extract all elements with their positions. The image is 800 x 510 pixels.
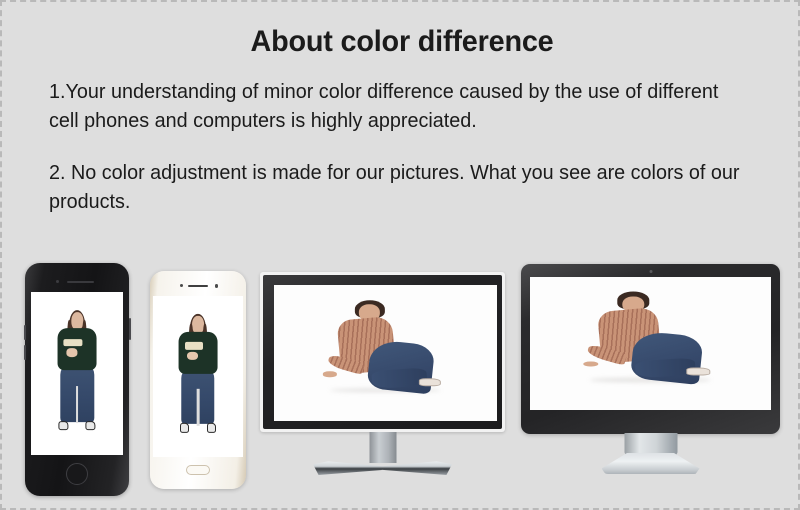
black-smartphone-screen	[31, 292, 123, 455]
pc-monitor-screen	[274, 285, 497, 421]
standing-model-photo	[49, 312, 104, 436]
model-shoe-left	[180, 423, 189, 433]
earpiece-speaker-icon	[67, 281, 94, 284]
front-camera-icon	[215, 284, 219, 288]
model-shoe-left	[59, 421, 68, 431]
apple-display-stand-base	[602, 453, 700, 474]
model-jeans-gap	[76, 386, 79, 423]
sweatshirt-graphic	[185, 342, 203, 349]
seated-model-photo	[576, 292, 725, 401]
apple-display-screen	[530, 277, 771, 410]
white-smartphone-screen	[153, 296, 243, 457]
model-heeled-shoe	[419, 378, 441, 386]
earpiece-speaker-icon	[188, 285, 208, 288]
proximity-sensor-icon	[180, 284, 183, 287]
apple-display-bezel	[521, 264, 780, 434]
page-title: About color difference	[18, 25, 786, 59]
pc-monitor-outer-frame	[260, 272, 505, 432]
webcam-icon	[649, 270, 652, 273]
black-smartphone	[25, 263, 129, 496]
disclaimer-paragraph-2: 2. No color adjustment is made for our p…	[49, 158, 749, 216]
model-hand	[66, 348, 77, 357]
seated-model-photo	[316, 300, 454, 412]
standing-model-photo	[171, 315, 225, 437]
pc-monitor-bezel	[263, 275, 502, 429]
disclaimer-paragraph-1: 1.Your understanding of minor color diff…	[49, 77, 749, 135]
apple-display-stand-neck	[624, 433, 677, 455]
model-sweatshirt	[57, 328, 97, 370]
front-camera-icon	[56, 280, 59, 283]
text-section: About color difference 1.Your understand…	[2, 2, 800, 216]
pc-monitor	[260, 272, 505, 497]
color-difference-banner: About color difference 1.Your understand…	[0, 0, 800, 510]
home-button[interactable]	[186, 465, 210, 475]
model-hand	[583, 361, 598, 366]
white-smartphone	[150, 271, 246, 489]
model-hand	[323, 371, 337, 377]
apple-logo-icon	[645, 414, 657, 428]
volume-down-button[interactable]	[24, 345, 26, 360]
apple-display	[521, 264, 780, 494]
power-button[interactable]	[129, 318, 131, 340]
model-heeled-shoe	[686, 368, 710, 376]
home-button[interactable]	[66, 463, 88, 485]
pc-monitor-stand-neck	[369, 432, 396, 463]
model-shoe-right	[207, 423, 216, 433]
model-shoe-right	[86, 421, 95, 431]
sweatshirt-graphic	[64, 339, 83, 346]
model-sweatshirt	[179, 332, 218, 374]
model-hand	[187, 351, 198, 360]
device-showcase	[2, 250, 800, 510]
volume-up-button[interactable]	[24, 325, 26, 340]
model-jeans-gap	[197, 389, 200, 426]
